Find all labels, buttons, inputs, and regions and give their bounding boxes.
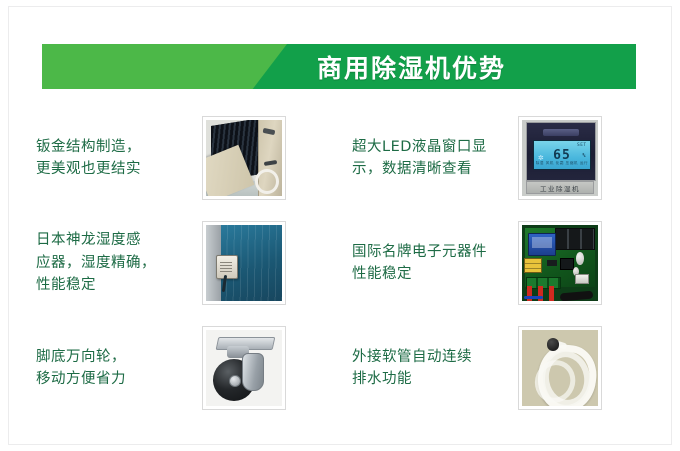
feature-item-electronic-components: 国际名牌电子元器件 性能稳定: [352, 210, 652, 316]
swivel-caster-wheel-photo: [206, 330, 282, 406]
circuit-board-photo: [522, 225, 598, 301]
lcd-screen: SET ✲ 65 % 除湿 风机 化霜 压缩机 运行: [533, 140, 591, 170]
feature-line: 超大LED液晶窗口显: [352, 136, 512, 158]
feature-thumbnail-humidity-sensor: [202, 221, 286, 305]
yellow-terminal-block: [524, 258, 543, 272]
sheet-metal-cabinet-photo: [206, 120, 282, 196]
hose-black-fitting: [547, 338, 559, 350]
feature-line: 钣金结构制造，: [36, 136, 196, 158]
lcd-status-row: 除湿 风机 化霜 压缩机 运行: [534, 161, 590, 166]
feature-thumbnail-led-display: SET ✲ 65 % 除湿 风机 化霜 压缩机 运行 工业除湿机: [518, 116, 602, 200]
feature-text-electronic-components: 国际名牌电子元器件 性能稳定: [352, 241, 512, 286]
feature-item-sheet-metal: 钣金结构制造， 更美观也更结实: [36, 105, 336, 211]
feature-thumbnail-electronic-components: [518, 221, 602, 305]
drain-hose-photo: [522, 330, 598, 406]
white-connector: [575, 274, 589, 284]
thumbnail-inner: [522, 225, 598, 301]
feature-line: 示，数据清晰查看: [352, 158, 512, 180]
blue-transformer: [528, 233, 556, 256]
feature-item-led-display: 超大LED液晶窗口显 示，数据清晰查看 SET ✲ 65 % 除湿 风: [352, 105, 652, 211]
thumbnail-inner: SET ✲ 65 % 除湿 风机 化霜 压缩机 运行 工业除湿机: [522, 120, 598, 196]
black-wire-harness: [560, 290, 594, 300]
thumbnail-inner: [206, 330, 282, 406]
feature-text-led-display: 超大LED液晶窗口显 示，数据清晰查看: [352, 136, 512, 181]
feature-text-caster-wheels: 脚底万向轮， 移动方便省力: [36, 346, 196, 391]
product-brand-label: 工业除湿机: [526, 181, 594, 195]
feature-line: 应器，湿度精确，: [36, 252, 196, 274]
panel-top-strip: [543, 129, 579, 136]
lcd-percent-unit: %: [583, 153, 586, 159]
thumbnail-inner: [206, 225, 282, 301]
feature-line: 性能稳定: [352, 263, 512, 285]
feature-line: 移动方便省力: [36, 368, 196, 390]
feature-item-drain-hose: 外接软管自动连续 排水功能: [352, 315, 652, 421]
product-feature-poster: 商用除湿机优势 钣金结构制造， 更美观也更结实: [0, 0, 680, 451]
feature-line: 更美观也更结实: [36, 158, 196, 180]
blue-wire: [524, 296, 544, 300]
feature-text-sheet-metal: 钣金结构制造， 更美观也更结实: [36, 136, 196, 181]
feature-thumbnail-caster-wheels: [202, 326, 286, 410]
feature-thumbnail-drain-hose: [518, 326, 602, 410]
ic-chip-main: [560, 258, 574, 270]
humidity-sensor-on-coil-photo: [206, 225, 282, 301]
header-banner: 商用除湿机优势: [42, 44, 636, 89]
page-title: 商用除湿机优势: [42, 44, 636, 89]
ic-chip-small: [547, 260, 557, 266]
feature-line: 国际名牌电子元器件: [352, 241, 512, 263]
wheel-hub: [229, 375, 241, 387]
led-control-panel-photo: SET ✲ 65 % 除湿 风机 化霜 压缩机 运行 工业除湿机: [522, 120, 598, 196]
feature-item-caster-wheels: 脚底万向轮， 移动方便省力: [36, 315, 336, 421]
feature-line: 外接软管自动连续: [352, 346, 512, 368]
feature-line: 排水功能: [352, 368, 512, 390]
feature-grid: 钣金结构制造， 更美观也更结实: [0, 100, 680, 420]
feature-line: 脚底万向轮，: [36, 346, 196, 368]
feature-thumbnail-sheet-metal: [202, 116, 286, 200]
feature-item-humidity-sensor: 日本神龙湿度感 应器，湿度精确， 性能稳定: [36, 210, 336, 316]
feature-line: 性能稳定: [36, 274, 196, 296]
feature-text-drain-hose: 外接软管自动连续 排水功能: [352, 346, 512, 391]
panel-face: SET ✲ 65 % 除湿 风机 化霜 压缩机 运行: [526, 122, 596, 180]
feature-line: 日本神龙湿度感: [36, 229, 196, 251]
wheel-fork: [242, 353, 264, 391]
thumbnail-inner: [206, 120, 282, 196]
thumbnail-inner: [522, 330, 598, 406]
relay-block: [555, 228, 595, 250]
feature-text-humidity-sensor: 日本神龙湿度感 应器，湿度精确， 性能稳定: [36, 229, 196, 296]
